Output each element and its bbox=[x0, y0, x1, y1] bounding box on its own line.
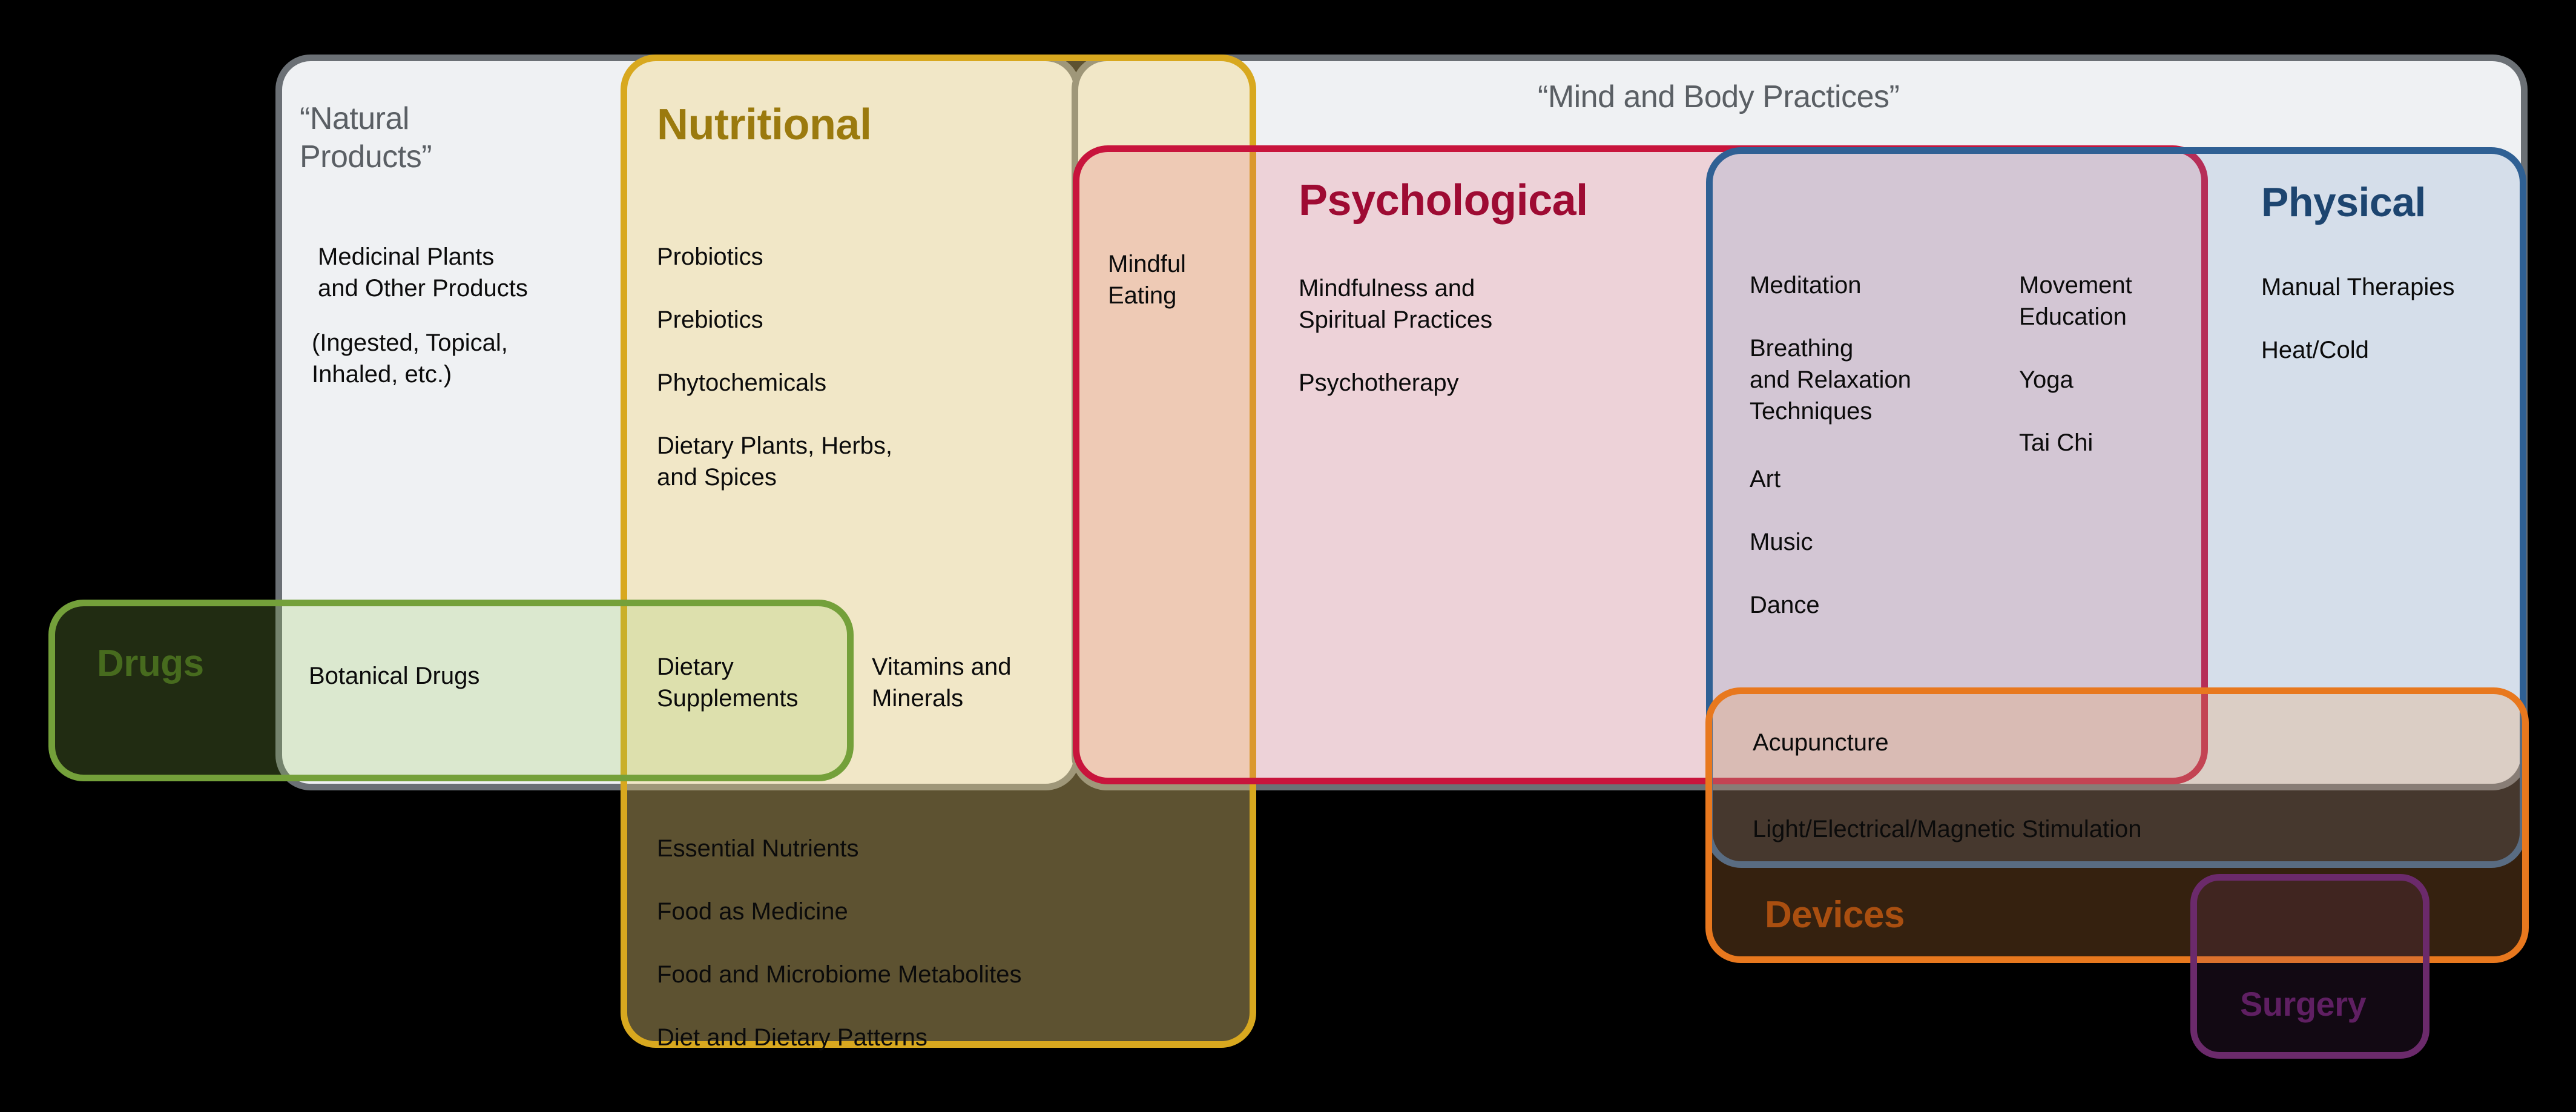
overlap-label-movement-column: Movement Education Yoga Tai Chi bbox=[2019, 270, 2132, 458]
item-ingested-topical-inhaled: (Ingested, Topical, Inhaled, etc.) bbox=[312, 327, 508, 390]
overlap-label-dietary-supplements: Dietary Supplements bbox=[657, 651, 798, 714]
group-header-nutritional: Nutritional bbox=[657, 100, 871, 150]
overlap-label-vitamins-and-minerals: Vitamins and Minerals bbox=[872, 651, 1012, 714]
item-medicinal-plants: Medicinal Plants and Other Products bbox=[318, 241, 528, 304]
group-header-drugs: Drugs bbox=[97, 642, 204, 685]
group-header-mind-and-body: “Mind and Body Practices” bbox=[1538, 79, 1899, 115]
diagram-canvas: “Natural Products” “Mind and Body Practi… bbox=[0, 0, 2576, 1112]
group-header-devices: Devices bbox=[1765, 893, 1905, 936]
group-header-psychological: Psychological bbox=[1299, 176, 1588, 225]
overlap-label-mindful-eating: Mindful Eating bbox=[1108, 248, 1186, 311]
item-list-physical: Manual Therapies Heat/Cold bbox=[2261, 271, 2454, 366]
item-list-nutritional-bottom: Essential Nutrients Food as Medicine Foo… bbox=[657, 833, 1022, 1053]
overlap-label-botanical-drugs: Botanical Drugs bbox=[309, 660, 479, 692]
item-list-psychological: Mindfulness and Spiritual Practices Psyc… bbox=[1299, 273, 1492, 399]
overlap-label-light-stimulation: Light/Electrical/Magnetic Stimulation bbox=[1753, 813, 2142, 845]
group-header-natural-products: “Natural Products” bbox=[300, 100, 432, 177]
group-header-surgery: Surgery bbox=[2240, 984, 2366, 1024]
overlap-label-art-music-dance: Art Music Dance bbox=[1750, 463, 1820, 621]
group-box-surgery[interactable] bbox=[2190, 874, 2429, 1059]
overlap-label-meditation-column: Meditation Breathing and Relaxation Tech… bbox=[1750, 270, 1911, 427]
overlap-label-acupuncture: Acupuncture bbox=[1753, 727, 1889, 758]
group-header-physical: Physical bbox=[2261, 179, 2426, 226]
item-list-nutritional-top: Probiotics Prebiotics Phytochemicals Die… bbox=[657, 241, 892, 493]
